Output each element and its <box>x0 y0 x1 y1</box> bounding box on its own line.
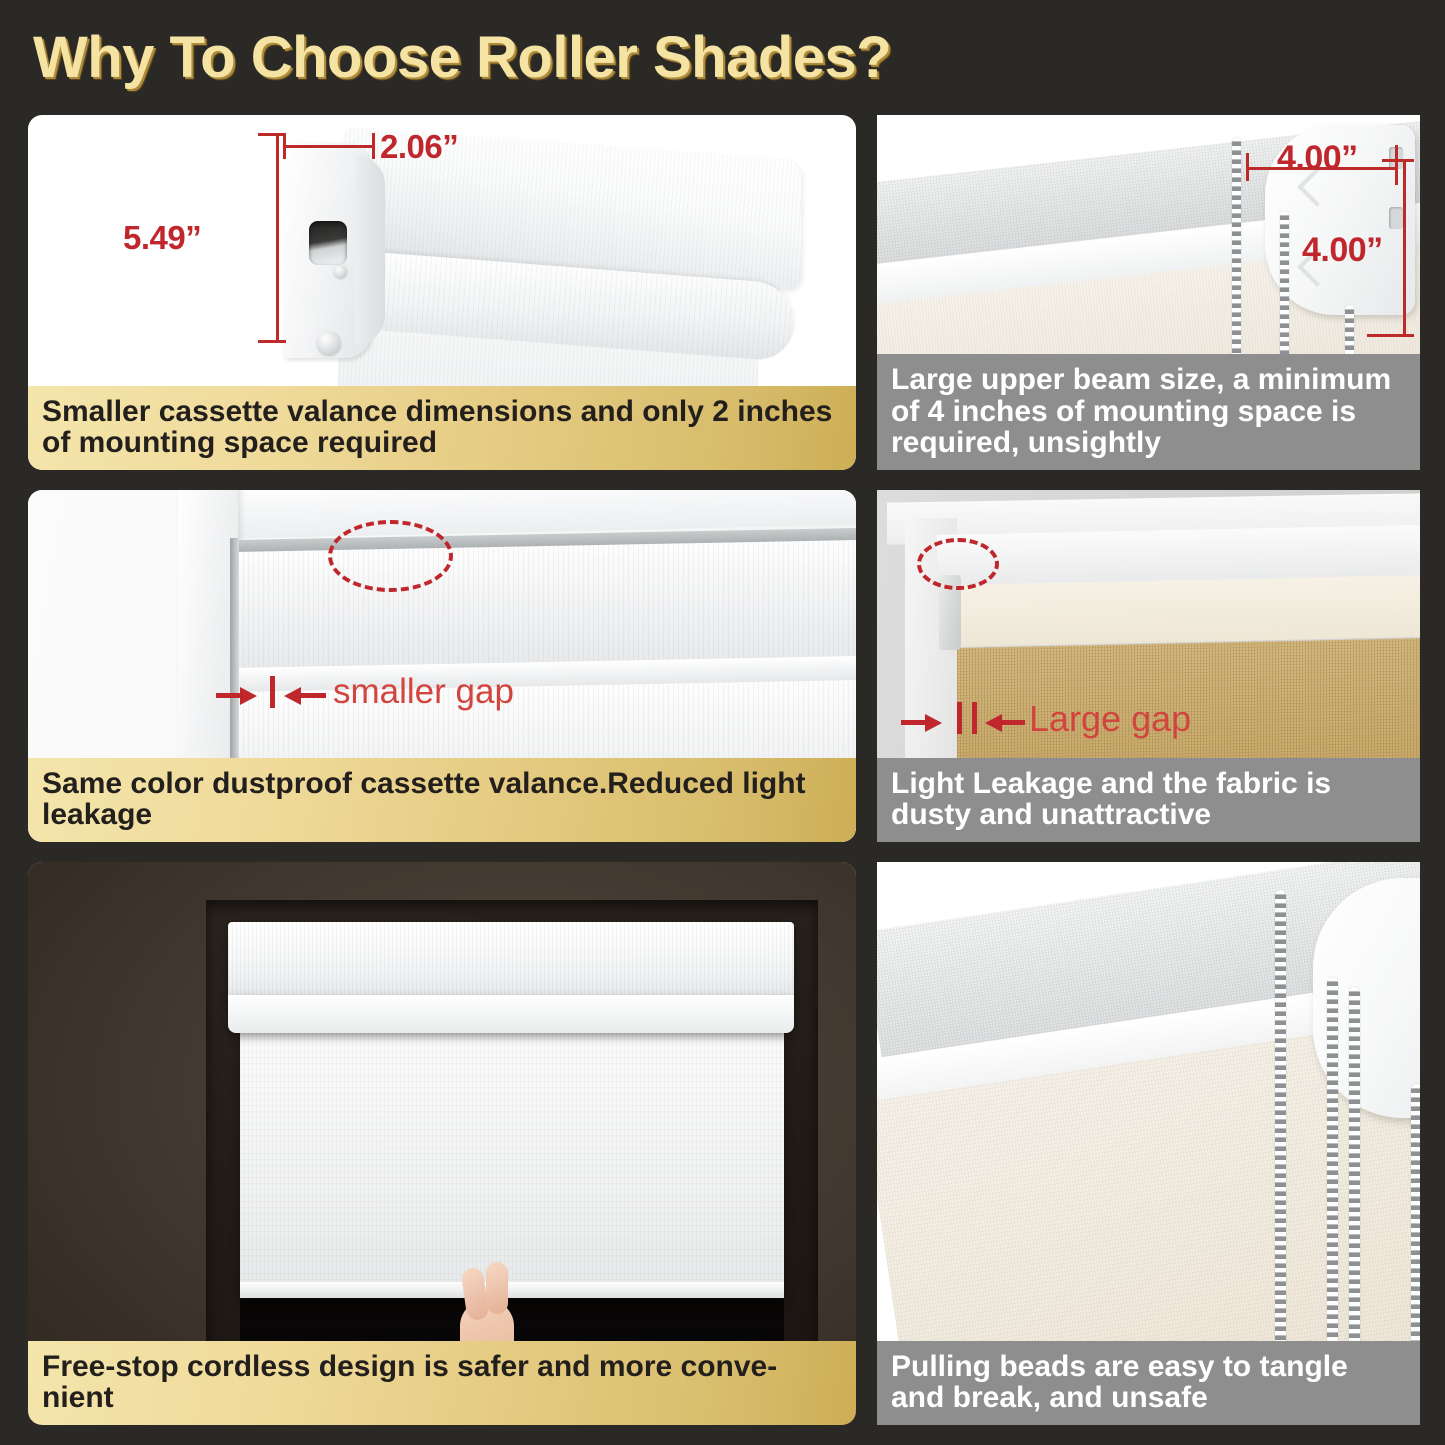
dim-beam-height-line <box>1403 159 1406 337</box>
dim-beam-height-label: 4.00” <box>1302 231 1383 270</box>
valance-slot <box>309 221 347 265</box>
dim-height-line <box>276 133 279 343</box>
gap-arrow-left-tail <box>901 720 929 725</box>
roller-shade-fabric <box>240 1030 784 1298</box>
gap-highlight-circle <box>328 520 453 592</box>
dim-beam-width-label: 4.00” <box>1277 139 1358 178</box>
panel-smaller-cassette: 2.06” 5.49” Smaller cassette valance dim… <box>28 115 856 470</box>
gap-marker-bar-a <box>957 702 962 734</box>
dim-beam-width-tick-left <box>1246 153 1249 181</box>
page-title: Why To Choose Roller Shades? <box>33 24 891 91</box>
bead-chain-right <box>1411 1084 1420 1384</box>
dim-width-label: 2.06” <box>380 128 458 166</box>
dim-height-tick-bottom <box>258 340 286 343</box>
cassette-lip <box>228 995 794 1033</box>
valance-end-cap <box>283 143 371 358</box>
cassette-headrail <box>228 922 794 1000</box>
gap-highlight-circle <box>917 538 999 590</box>
header-bar: Why To Choose Roller Shades? <box>0 0 1445 108</box>
gap-arrow-right-tail <box>999 720 1025 725</box>
panel-large-beam: 4.00” 4.00” Large upper beam size, a min… <box>877 115 1420 470</box>
valance-band <box>947 575 1420 647</box>
gap-callout-label: Large gap <box>1029 698 1191 740</box>
valance-screw-top <box>334 265 347 278</box>
panel-2-caption: Large upper beam size, a minimum of 4 in… <box>877 354 1420 470</box>
gap-marker-bar <box>270 676 275 708</box>
beam-notch-bottom <box>1389 207 1403 229</box>
panel-4-caption: Light Leakage and the fabric is dusty an… <box>877 758 1420 842</box>
panel-5-caption: Free-stop cordless design is safer and m… <box>28 1341 856 1425</box>
panel-6-caption: Pulling beads are easy to tangle and bre… <box>877 1341 1420 1425</box>
dim-beam-height-tick-top <box>1382 159 1414 162</box>
panel-pulling-beads: Pulling beads are easy to tangle and bre… <box>877 862 1420 1425</box>
dim-height-label: 5.49” <box>123 219 201 257</box>
gap-callout-label: smaller gap <box>333 672 514 712</box>
gap-arrow-right-tail <box>298 693 326 698</box>
panel-cordless-design: Free-stop cordless design is safer and m… <box>28 862 856 1425</box>
bead-chain-mid2 <box>1349 987 1360 1387</box>
bead-chain-mid <box>1327 977 1338 1389</box>
dim-width-line <box>283 145 375 148</box>
beam-notch-bottom <box>1313 906 1331 934</box>
dim-beam-width-tick-right <box>1395 145 1398 185</box>
gap-arrow-left-tail <box>216 693 244 698</box>
gap-marker-bar-b <box>972 702 977 734</box>
panel-light-leakage: Large gap Light Leakage and the fabric i… <box>877 490 1420 842</box>
bead-chain-left <box>1275 890 1286 1385</box>
panel-dustproof-valance: smaller gap Same color dustproof cassett… <box>28 490 856 842</box>
shade-fabric-upper <box>233 540 856 670</box>
hand-finger-2 <box>486 1262 508 1314</box>
panel-3-caption: Same color dustproof cassette valance.Re… <box>28 758 856 842</box>
panel-1-caption: Smaller cassette valance dimensions and … <box>28 386 856 470</box>
valance-screw-bottom <box>317 331 341 355</box>
dim-height-tick-top <box>258 133 286 136</box>
beam-notch-top <box>1313 878 1331 906</box>
dim-beam-height-tick-bottom <box>1367 334 1414 337</box>
